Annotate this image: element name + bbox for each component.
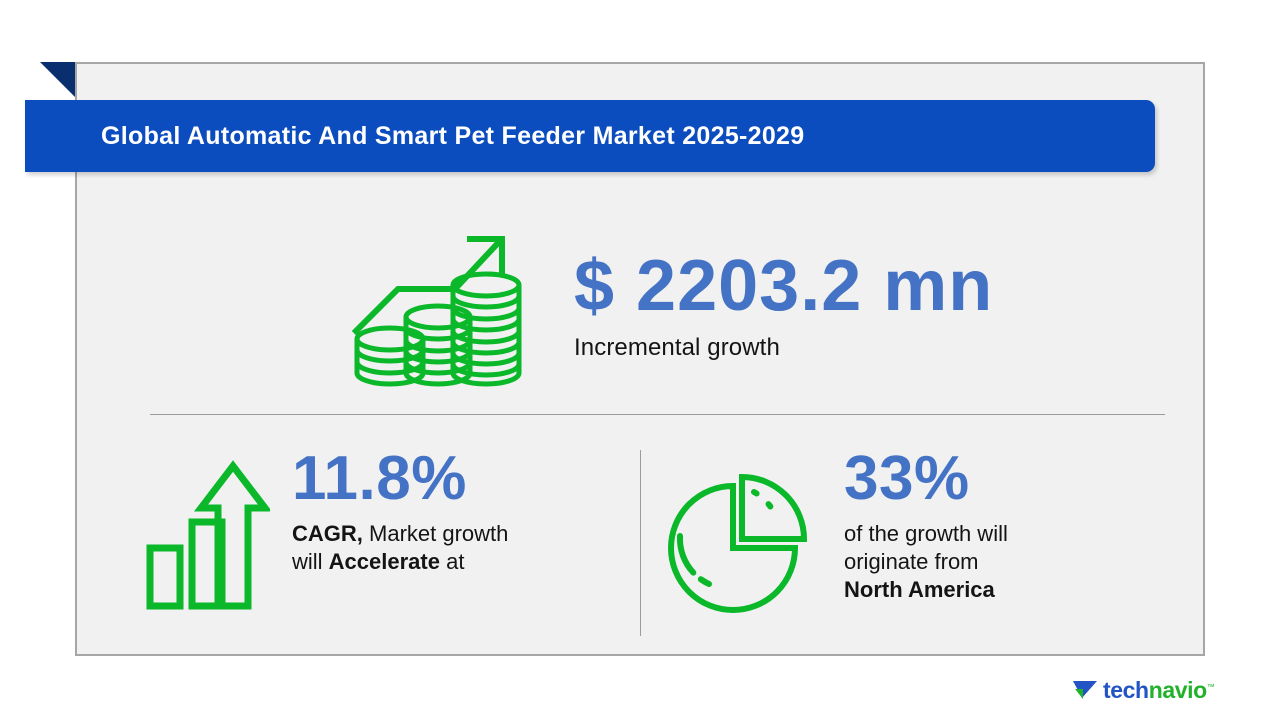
cagr-label: CAGR, xyxy=(292,521,363,546)
cagr-desc-part-1: Market growth xyxy=(363,521,509,546)
bottom-stats-row: 11.8% CAGR, Market growth will Accelerat… xyxy=(77,432,1203,654)
coin-stacks-growth-arrow-icon xyxy=(322,221,552,391)
region-share-section: 33% of the growth will originate from No… xyxy=(640,432,1203,654)
paper-plane-icon xyxy=(1072,678,1098,702)
region-share-value: 33% xyxy=(844,448,1008,510)
horizontal-divider xyxy=(150,414,1165,415)
logo-navio-text: navio xyxy=(1149,677,1207,703)
incremental-growth-text: $ 2203.2 mn Incremental growth xyxy=(574,250,993,362)
incremental-growth-section: $ 2203.2 mn Incremental growth xyxy=(77,198,1203,414)
region-desc-line-2: originate from xyxy=(844,549,979,574)
region-name: North America xyxy=(844,577,995,602)
bar-chart-up-arrow-icon xyxy=(145,432,270,613)
logo-tech-text: tech xyxy=(1103,677,1149,703)
technavio-wordmark: technavio™ xyxy=(1103,679,1214,702)
cagr-desc-part-2: will xyxy=(292,549,329,574)
trademark-symbol: ™ xyxy=(1207,682,1215,691)
cagr-desc-part-3: at xyxy=(440,549,464,574)
infographic-root: Global Automatic And Smart Pet Feeder Ma… xyxy=(0,0,1280,720)
region-share-description: of the growth will originate from North … xyxy=(844,520,1008,604)
incremental-growth-caption: Incremental growth xyxy=(574,334,993,362)
pie-chart-icon xyxy=(658,432,808,618)
cagr-description: CAGR, Market growth will Accelerate at xyxy=(292,520,508,576)
region-desc-line-1: of the growth will xyxy=(844,521,1008,546)
cagr-section: 11.8% CAGR, Market growth will Accelerat… xyxy=(77,432,640,654)
cagr-accelerate-label: Accelerate xyxy=(329,549,440,574)
title-banner: Global Automatic And Smart Pet Feeder Ma… xyxy=(25,100,1155,172)
technavio-logo: technavio™ xyxy=(1072,678,1214,702)
incremental-growth-value: $ 2203.2 mn xyxy=(574,250,993,322)
page-title: Global Automatic And Smart Pet Feeder Ma… xyxy=(101,122,804,151)
corner-fold-decoration xyxy=(40,62,76,98)
region-share-text: 33% of the growth will originate from No… xyxy=(844,432,1008,604)
cagr-value: 11.8% xyxy=(292,448,508,510)
cagr-text: 11.8% CAGR, Market growth will Accelerat… xyxy=(292,432,508,576)
